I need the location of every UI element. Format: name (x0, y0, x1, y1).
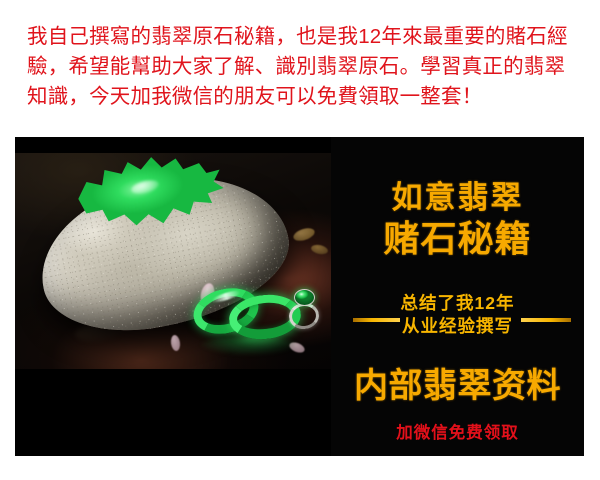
banner-headline: 内部翡翠资料 (331, 367, 584, 405)
banner-text-column: 如意翡翠 赌石秘籍 总结了我12年 从业经验撰写 内部翡翠资料 加微信免费领取 (331, 137, 584, 456)
promo-page: 我自己撰寫的翡翠原石秘籍，也是我12年來最重要的賭石經 驗，希望能幫助大家了解、… (0, 0, 600, 480)
banner-subtitle-line-1: 总结了我12年 (331, 292, 584, 315)
intro-paragraph: 我自己撰寫的翡翠原石秘籍，也是我12年來最重要的賭石經 驗，希望能幫助大家了解、… (27, 22, 583, 112)
banner-title-line-1: 如意翡翠 (331, 181, 584, 215)
bangle-reflection (199, 337, 299, 355)
banner-subtitle-line-2: 从业经验撰写 (331, 315, 584, 338)
banner-subtitle: 总结了我12年 从业经验撰写 (331, 292, 584, 338)
jade-cabochon-stone (294, 289, 315, 306)
intro-line-3: 知識，今天加我微信的朋友可以免費領取一整套！ (27, 82, 583, 112)
banner-title-line-2: 赌石秘籍 (331, 219, 584, 259)
promo-banner: 如意翡翠 赌石秘籍 总结了我12年 从业经验撰写 内部翡翠资料 加微信免费领取 (15, 137, 584, 456)
intro-line-1: 我自己撰寫的翡翠原石秘籍，也是我12年來最重要的賭石經 (27, 22, 583, 52)
banner-cta-text: 加微信免费领取 (331, 423, 584, 443)
intro-line-2: 驗，希望能幫助大家了解、識別翡翠原石。學習真正的翡翠 (27, 52, 583, 82)
jadeite-rough-stone-photo (15, 137, 331, 456)
